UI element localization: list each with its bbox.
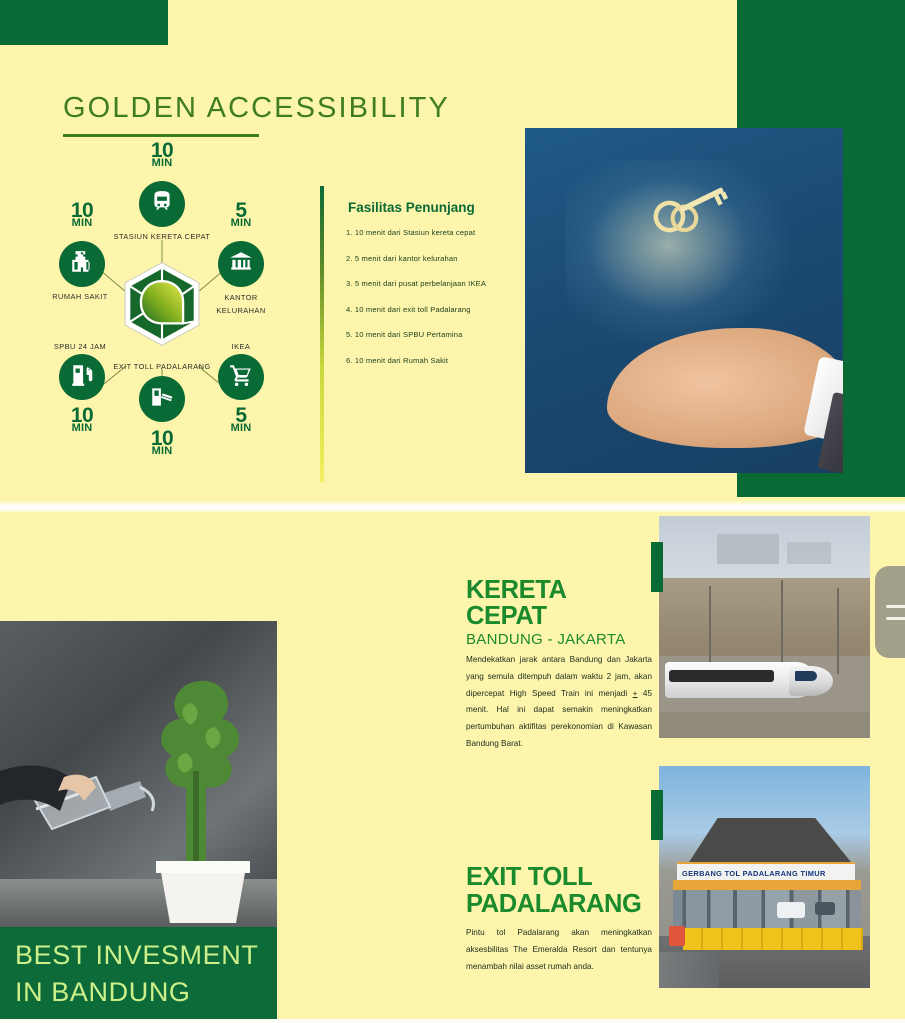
- bank-icon: [228, 249, 254, 280]
- facilities-card: Fasilitas Penunjang 1. 10 menit dari Sta…: [320, 186, 525, 482]
- page-title-block: GOLDEN ACCESSIBILITY: [63, 92, 450, 137]
- exit-toll-text-block: EXIT TOLLPADALARANG Pintu tol Padalarang…: [466, 864, 652, 975]
- investment-caption-band: BEST INVESMENT IN BANDUNG: [0, 927, 277, 1019]
- kereta-cepat-accent-bar: [651, 542, 663, 592]
- background-building: [717, 534, 779, 564]
- kereta-cepat-body: Mendekatkan jarak antara Bandung dan Jak…: [466, 652, 652, 753]
- node-label-stasiun: STASIUN KERETA CEPAT: [82, 232, 242, 241]
- list-item: 1. 10 menit dari Stasiun kereta cepat: [346, 228, 526, 237]
- exit-toll-heading-line2: PADALARANG: [466, 890, 641, 918]
- node-rumah-sakit[interactable]: [59, 241, 105, 287]
- yellow-road-barrier: [683, 928, 863, 950]
- top-left-green-block: [0, 0, 168, 45]
- node-label-exit-toll: EXIT TOLL PADALARANG: [82, 362, 242, 371]
- vehicle: [777, 902, 805, 918]
- node-label-rumah-sakit: RUMAH SAKIT: [40, 292, 120, 301]
- kc-body-pre: Mendekatkan jarak antara Bandung dan Jak…: [466, 655, 652, 698]
- toll-canopy: [673, 880, 861, 890]
- investment-line-2: IN BANDUNG: [15, 977, 191, 1008]
- fuel-pump-icon: [69, 362, 95, 393]
- facilities-list: 1. 10 menit dari Stasiun kereta cepat 2.…: [346, 228, 526, 381]
- catenary-pole: [709, 586, 711, 674]
- list-item: 3. 5 menit dari pusat perbelanjaan IKEA: [346, 279, 526, 288]
- list-item: 2. 5 menit dari kantor kelurahan: [346, 254, 526, 263]
- hamburger-line-icon: [886, 617, 905, 620]
- train-windows: [669, 670, 774, 682]
- golden-key-icon: [643, 168, 735, 246]
- investment-line-1: BEST INVESMENT: [15, 940, 258, 971]
- page-title: GOLDEN ACCESSIBILITY: [63, 92, 450, 125]
- brochure-page: GOLDEN ACCESSIBILITY: [0, 0, 905, 1023]
- toll-plaza-roof: [667, 818, 862, 866]
- time-badge-spbu: 10 MIN: [59, 407, 105, 433]
- slide-golden-accessibility: GOLDEN ACCESSIBILITY: [0, 0, 905, 508]
- catenary-pole: [837, 588, 839, 674]
- time-badge-stasiun: 10 MIN: [139, 142, 185, 168]
- node-ikea[interactable]: [218, 354, 264, 400]
- kereta-cepat-text-block: KERETA CEPAT BANDUNG - JAKARTA Mendekatk…: [466, 578, 652, 753]
- menu-fab[interactable]: [875, 566, 905, 658]
- exit-toll-accent-bar: [651, 790, 663, 840]
- padalarang-toll-gate-photo: GERBANG TOL PADALARANG TIMUR: [659, 766, 870, 988]
- accessibility-infographic: 10 MIN STASIUN KERETA CEPAT 5 MIN KANTOR…: [22, 140, 302, 505]
- title-underline: [63, 134, 259, 137]
- list-item: 4. 10 menit dari exit toll Padalarang: [346, 305, 526, 314]
- high-speed-train-photo: [659, 516, 870, 738]
- node-stasiun-kereta-cepat[interactable]: [139, 181, 185, 227]
- emeralda-hexagon-logo: [118, 260, 206, 348]
- facilities-title: Fasilitas Penunjang: [348, 200, 475, 215]
- node-exit-toll-padalarang[interactable]: [139, 376, 185, 422]
- facilities-accent-bar: [320, 186, 324, 482]
- red-barrier: [669, 926, 685, 946]
- toll-gate-icon: [149, 384, 175, 415]
- list-item: 5. 10 menit dari SPBU Pertamina: [346, 330, 526, 339]
- hospital-icon: [69, 249, 95, 280]
- node-kantor-kelurahan[interactable]: [218, 241, 264, 287]
- kereta-cepat-heading: KERETA CEPAT: [466, 578, 652, 629]
- time-badge-rumah-sakit: 10 MIN: [59, 202, 105, 228]
- slide-best-investment: BEST INVESMENT IN BANDUNG KERETA CEPAT B…: [0, 512, 905, 1019]
- time-badge-ikea: 5 MIN: [218, 407, 264, 433]
- list-item: 6. 10 menit dari Rumah Sakit: [346, 356, 526, 365]
- time-badge-exit-toll: 10 MIN: [139, 430, 185, 456]
- golden-key-in-hand-photo: [525, 128, 843, 473]
- vehicle: [815, 902, 835, 915]
- catenary-pole: [781, 580, 783, 674]
- node-label-kantor: KANTOR KELURAHAN: [202, 292, 280, 317]
- kereta-cepat-subheading: BANDUNG - JAKARTA: [466, 632, 652, 647]
- money-plant-watering-photo: [0, 621, 277, 931]
- hamburger-line-icon: [886, 605, 905, 608]
- node-label-ikea: IKEA: [218, 342, 264, 351]
- investment-block: BEST INVESMENT IN BANDUNG: [0, 621, 277, 1019]
- train-cab-window: [795, 671, 817, 681]
- node-label-spbu: SPBU 24 JAM: [40, 342, 120, 351]
- toll-gate-sign-text: GERBANG TOL PADALARANG TIMUR: [677, 869, 826, 878]
- train-icon: [149, 189, 175, 220]
- exit-toll-heading-line1: EXIT TOLL: [466, 863, 592, 891]
- exit-toll-body: Pintu tol Padalarang akan meningkatkan a…: [466, 925, 652, 975]
- money-plant-illustration: [0, 621, 277, 931]
- road-marking-area: [659, 952, 719, 988]
- foreground-fence: [659, 712, 870, 738]
- node-spbu-24-jam[interactable]: [59, 354, 105, 400]
- time-badge-kantor: 5 MIN: [218, 202, 264, 228]
- background-building: [787, 542, 831, 564]
- exit-toll-heading: EXIT TOLLPADALARANG: [466, 864, 652, 918]
